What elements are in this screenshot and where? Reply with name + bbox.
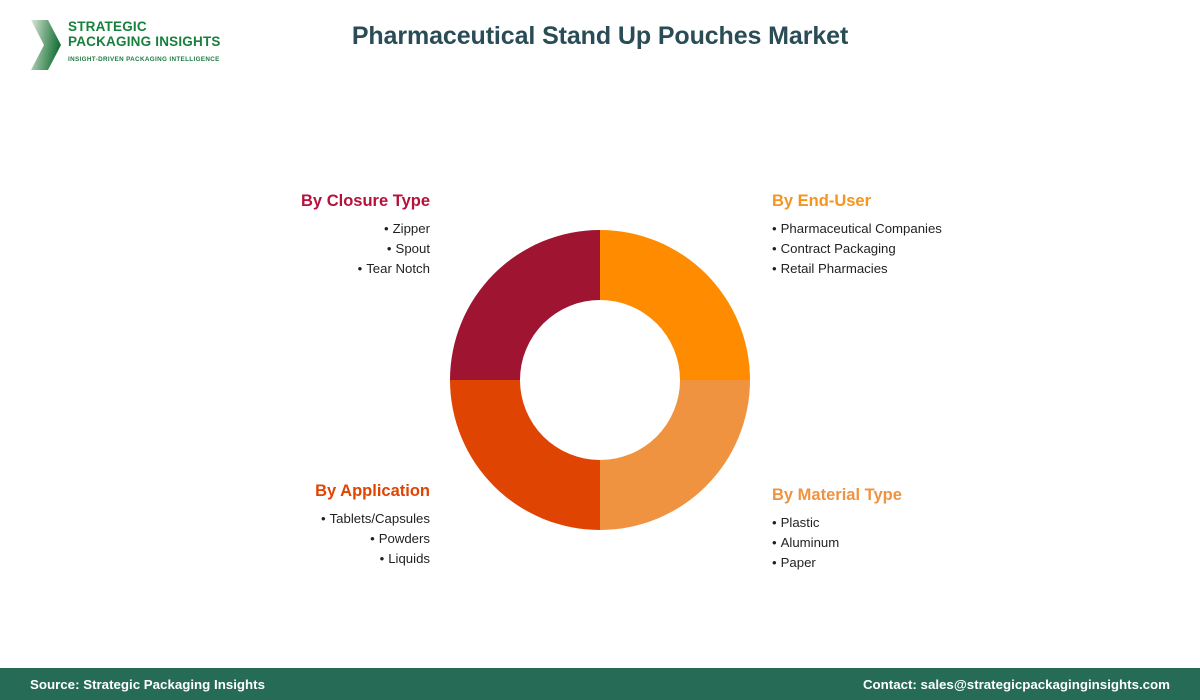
footer-bar: Source: Strategic Packaging Insights Con…	[0, 668, 1200, 700]
list-item-label: Powders	[379, 531, 430, 546]
list-item-label: Contract Packaging	[781, 241, 896, 256]
segment-end-user: By End-User •Pharmaceutical Companies •C…	[772, 192, 1032, 279]
segment-list-closure-type: •Zipper •Spout •Tear Notch	[250, 219, 430, 279]
list-item-label: Zipper	[393, 221, 430, 236]
list-item: •Tear Notch	[250, 259, 430, 279]
bullet-icon: •	[772, 515, 777, 530]
list-item: •Pharmaceutical Companies	[772, 219, 1032, 239]
segment-list-application: •Tablets/Capsules •Powders •Liquids	[250, 509, 430, 569]
segment-list-end-user: •Pharmaceutical Companies •Contract Pack…	[772, 219, 1032, 279]
list-item: •Spout	[250, 239, 430, 259]
list-item: •Zipper	[250, 219, 430, 239]
bullet-icon: •	[380, 551, 385, 566]
infographic-page: STRATEGIC PACKAGING INSIGHTS INSIGHT-DRI…	[0, 0, 1200, 700]
list-item-label: Retail Pharmacies	[781, 261, 888, 276]
list-item-label: Paper	[781, 555, 816, 570]
list-item: •Contract Packaging	[772, 239, 1032, 259]
list-item: •Tablets/Capsules	[250, 509, 430, 529]
list-item: •Aluminum	[772, 533, 1012, 553]
segment-application: By Application •Tablets/Capsules •Powder…	[250, 482, 430, 569]
donut-segment-top-left[interactable]	[450, 230, 600, 380]
bullet-icon: •	[772, 555, 777, 570]
logo-tagline: INSIGHT-DRIVEN PACKAGING INTELLIGENCE	[68, 56, 221, 63]
donut-chart	[450, 230, 750, 530]
donut-segment-bottom-right[interactable]	[600, 380, 750, 530]
page-title: Pharmaceutical Stand Up Pouches Market	[0, 22, 1200, 51]
segment-list-material-type: •Plastic •Aluminum •Paper	[772, 513, 1012, 573]
bullet-icon: •	[370, 531, 375, 546]
list-item-label: Plastic	[781, 515, 820, 530]
list-item: •Retail Pharmacies	[772, 259, 1032, 279]
segment-material-type: By Material Type •Plastic •Aluminum •Pap…	[772, 486, 1012, 573]
bullet-icon: •	[321, 511, 326, 526]
list-item-label: Aluminum	[781, 535, 840, 550]
list-item-label: Liquids	[388, 551, 430, 566]
segment-title-end-user: By End-User	[772, 192, 1032, 211]
list-item-label: Pharmaceutical Companies	[781, 221, 942, 236]
list-item-label: Tablets/Capsules	[330, 511, 430, 526]
list-item-label: Tear Notch	[366, 261, 430, 276]
list-item: •Liquids	[250, 549, 430, 569]
list-item-label: Spout	[396, 241, 430, 256]
footer-contact[interactable]: Contact: sales@strategicpackaginginsight…	[863, 677, 1170, 692]
bullet-icon: •	[358, 261, 363, 276]
donut-segment-top-right[interactable]	[600, 230, 750, 380]
bullet-icon: •	[384, 221, 389, 236]
segment-title-material-type: By Material Type	[772, 486, 1012, 505]
footer-source: Source: Strategic Packaging Insights	[30, 677, 265, 692]
segment-title-application: By Application	[250, 482, 430, 501]
segment-closure-type: By Closure Type •Zipper •Spout •Tear Not…	[250, 192, 430, 279]
bullet-icon: •	[772, 535, 777, 550]
bullet-icon: •	[772, 261, 777, 276]
list-item: •Powders	[250, 529, 430, 549]
bullet-icon: •	[772, 221, 777, 236]
bullet-icon: •	[772, 241, 777, 256]
segment-title-closure-type: By Closure Type	[250, 192, 430, 211]
list-item: •Plastic	[772, 513, 1012, 533]
bullet-icon: •	[387, 241, 392, 256]
list-item: •Paper	[772, 553, 1012, 573]
donut-segment-bottom-left[interactable]	[450, 380, 600, 530]
